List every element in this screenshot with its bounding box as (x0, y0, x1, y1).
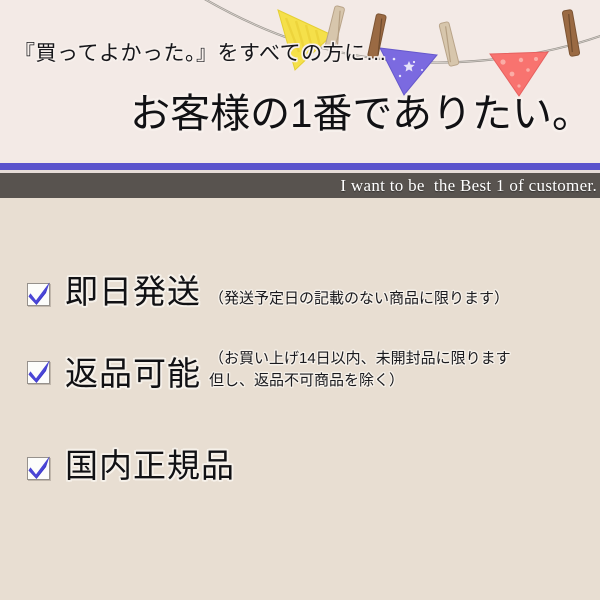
feature-item-same-day-shipping: 即日発送 （発送予定日の記載のない商品に限ります） (24, 272, 509, 312)
checkbox-checked-icon (24, 453, 53, 482)
promo-banner: 『買ってよかった。』をすべての方に… お客様の1番でありたい。 I want t… (0, 0, 600, 600)
pink-flag (490, 52, 548, 96)
feature-list: 即日発送 （発送予定日の記載のない商品に限ります） 返品可能 （お買い上げ14日… (0, 198, 600, 600)
hero-tagline: 『買ってよかった。』をすべての方に… (14, 42, 387, 65)
feature-item-returns-accepted: 返品可能 （お買い上げ14日以内、未開封品に限ります 但し、返品不可商品を除く） (24, 350, 511, 394)
slogan-text: I want to be the Best 1 of customer. (340, 176, 600, 196)
accent-rule (0, 163, 600, 170)
feature-title: 即日発送 (65, 272, 201, 312)
hero-section: 『買ってよかった。』をすべての方に… お客様の1番でありたい。 (0, 0, 600, 163)
feature-title: 国内正規品 (65, 446, 235, 486)
hero-headline: お客様の1番でありたい。 (130, 93, 592, 135)
feature-item-domestic-authorized: 国内正規品 (24, 446, 243, 486)
feature-title: 返品可能 (65, 354, 201, 394)
feature-note: （発送予定日の記載のない商品に限ります） (209, 288, 509, 310)
checkbox-checked-icon (24, 357, 53, 386)
clothespin-3 (439, 21, 459, 66)
purple-flag (380, 48, 437, 95)
slogan-bar: I want to be the Best 1 of customer. (0, 173, 600, 198)
checkbox-checked-icon (24, 279, 53, 308)
feature-note: （お買い上げ14日以内、未開封品に限ります 但し、返品不可商品を除く） (209, 348, 511, 392)
clothespin-4 (562, 9, 580, 56)
